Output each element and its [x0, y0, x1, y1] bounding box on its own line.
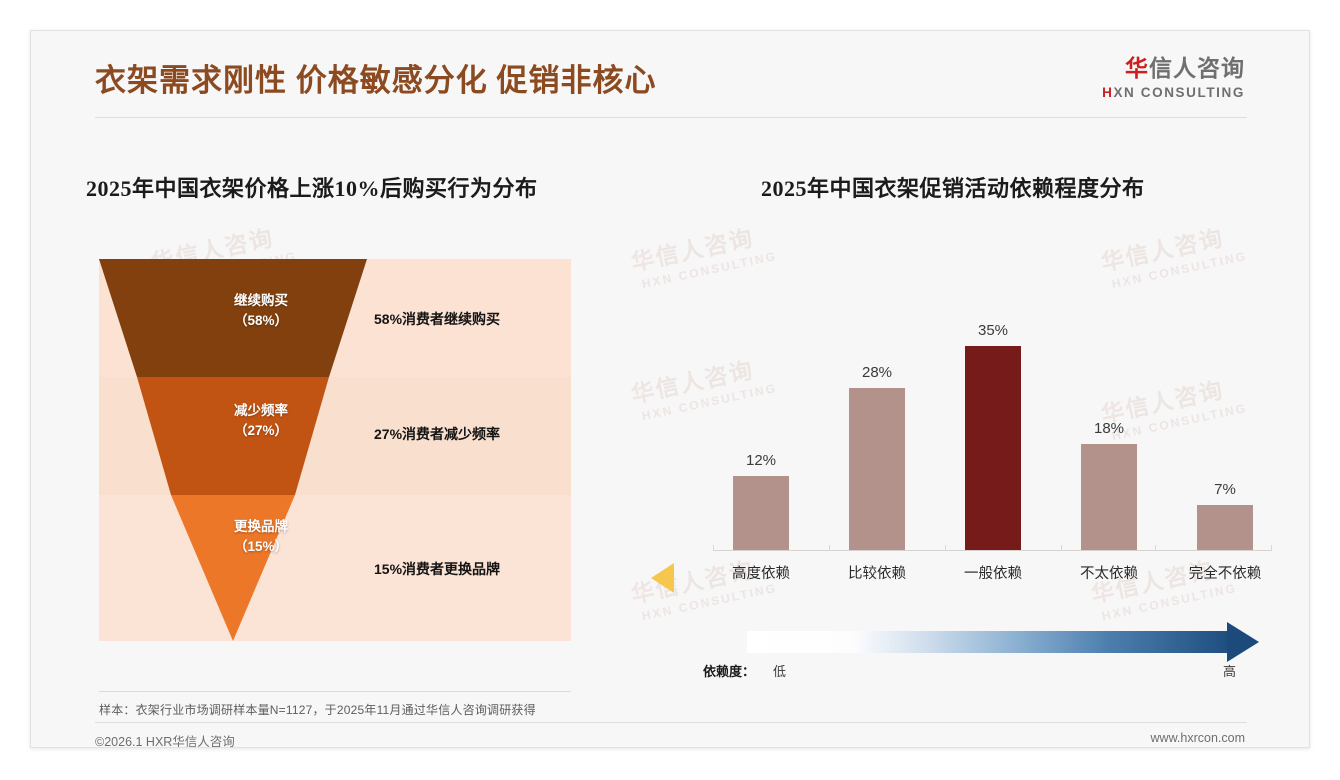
- bar-column: 35%: [935, 299, 1051, 551]
- left-chart-title: 2025年中国衣架价格上涨10%后购买行为分布: [86, 171, 538, 203]
- header-divider: [95, 117, 1247, 118]
- funnel-note-0: 58%消费者继续购买: [374, 309, 500, 329]
- source-divider: [99, 691, 571, 692]
- funnel-chart: 继续购买 （58%） 减少频率 （27%） 更换品牌 （15%） 58%消费者继…: [99, 259, 571, 641]
- footer-copyright: ©2026.1 HXR华信人咨询: [95, 731, 235, 748]
- bar-column: 18%: [1051, 299, 1167, 551]
- bar-rect: [1081, 444, 1137, 551]
- slide-canvas: 华信人咨询 HXN CONSULTING 华信人咨询 HXN CONSULTIN…: [30, 30, 1310, 748]
- dependency-gradient-legend: 依赖度： 低 高: [703, 625, 1283, 683]
- logo-en-rest: XN CONSULTING: [1113, 85, 1245, 100]
- gradient-arrow-icon: [1227, 622, 1259, 662]
- funnel-label-1-pct: （27%）: [161, 421, 361, 441]
- bar-rect: [733, 476, 789, 551]
- category-label: 比较依赖: [819, 562, 935, 583]
- watermark-cn-hx: 华: [1099, 245, 1129, 276]
- category-label: 一般依赖: [935, 562, 1051, 583]
- bar-value-label: 7%: [1214, 481, 1236, 498]
- brand-logo: 华信人咨询 HXN CONSULTING: [1102, 57, 1245, 100]
- bar-value-label: 28%: [862, 364, 892, 381]
- watermark-cn-hx: 华: [629, 245, 659, 276]
- x-axis-categories: 高度依赖 比较依赖 一般依赖 不太依赖 完全不依赖: [703, 562, 1283, 583]
- logo-cn-hx: 华: [1125, 55, 1149, 81]
- footer-website: www.hxrcon.com: [1151, 731, 1245, 745]
- funnel-label-1-text: 减少频率: [161, 401, 361, 421]
- triangle-left-icon: [651, 563, 674, 593]
- source-note: 样本：衣架行业市场调研样本量N=1127，于2025年11月通过华信人咨询调研获…: [99, 691, 571, 718]
- watermark-cn-hx: 华: [629, 377, 659, 408]
- funnel-label-2-text: 更换品牌: [161, 517, 361, 537]
- funnel-note-1: 27%消费者减少频率: [374, 424, 500, 444]
- legend-caption: 依赖度：: [703, 661, 755, 680]
- dependency-bar-chart: 12% 28% 35% 18% 7%: [703, 281, 1283, 601]
- logo-english: HXN CONSULTING: [1102, 86, 1245, 100]
- legend-low-label: 低: [773, 661, 786, 680]
- x-axis-ticks: [703, 545, 1283, 551]
- logo-en-hx: H: [1102, 85, 1113, 100]
- funnel-label-0: 继续购买 （58%）: [161, 291, 361, 330]
- watermark-cn-rest: 信人咨询: [1123, 224, 1226, 270]
- bar-value-label: 35%: [978, 322, 1008, 339]
- legend-high-label: 高: [1223, 661, 1236, 680]
- bar-value-label: 18%: [1094, 420, 1124, 437]
- category-label: 不太依赖: [1051, 562, 1167, 583]
- bar-series: 12% 28% 35% 18% 7%: [703, 299, 1283, 551]
- bar-rect: [849, 388, 905, 551]
- bar-column: 28%: [819, 299, 935, 551]
- funnel-note-2: 15%消费者更换品牌: [374, 559, 500, 579]
- funnel-label-1: 减少频率 （27%）: [161, 401, 361, 440]
- bar-rect-highlighted: [965, 346, 1021, 551]
- bar-column: 7%: [1167, 299, 1283, 551]
- footer-divider: [95, 722, 1247, 723]
- logo-cn-rest: 信人咨询: [1149, 55, 1245, 81]
- watermark-cn-rest: 信人咨询: [653, 224, 756, 270]
- logo-chinese: 华信人咨询: [1102, 57, 1245, 80]
- funnel-label-0-text: 继续购买: [161, 291, 361, 311]
- page-title: 衣架需求刚性 价格敏感分化 促销非核心: [95, 55, 657, 100]
- funnel-label-0-pct: （58%）: [161, 311, 361, 331]
- slide-header: 衣架需求刚性 价格敏感分化 促销非核心 华信人咨询 HXN CONSULTING: [31, 31, 1309, 123]
- funnel-label-2-pct: （15%）: [161, 537, 361, 557]
- category-label: 高度依赖: [703, 562, 819, 583]
- source-note-text: 样本：衣架行业市场调研样本量N=1127，于2025年11月通过华信人咨询调研获…: [99, 701, 571, 718]
- right-chart-title: 2025年中国衣架促销活动依赖程度分布: [761, 171, 1145, 203]
- bar-column: 12%: [703, 299, 819, 551]
- category-label: 完全不依赖: [1167, 562, 1283, 583]
- gradient-bar: [747, 631, 1227, 653]
- funnel-label-2: 更换品牌 （15%）: [161, 517, 361, 556]
- bar-value-label: 12%: [746, 452, 776, 469]
